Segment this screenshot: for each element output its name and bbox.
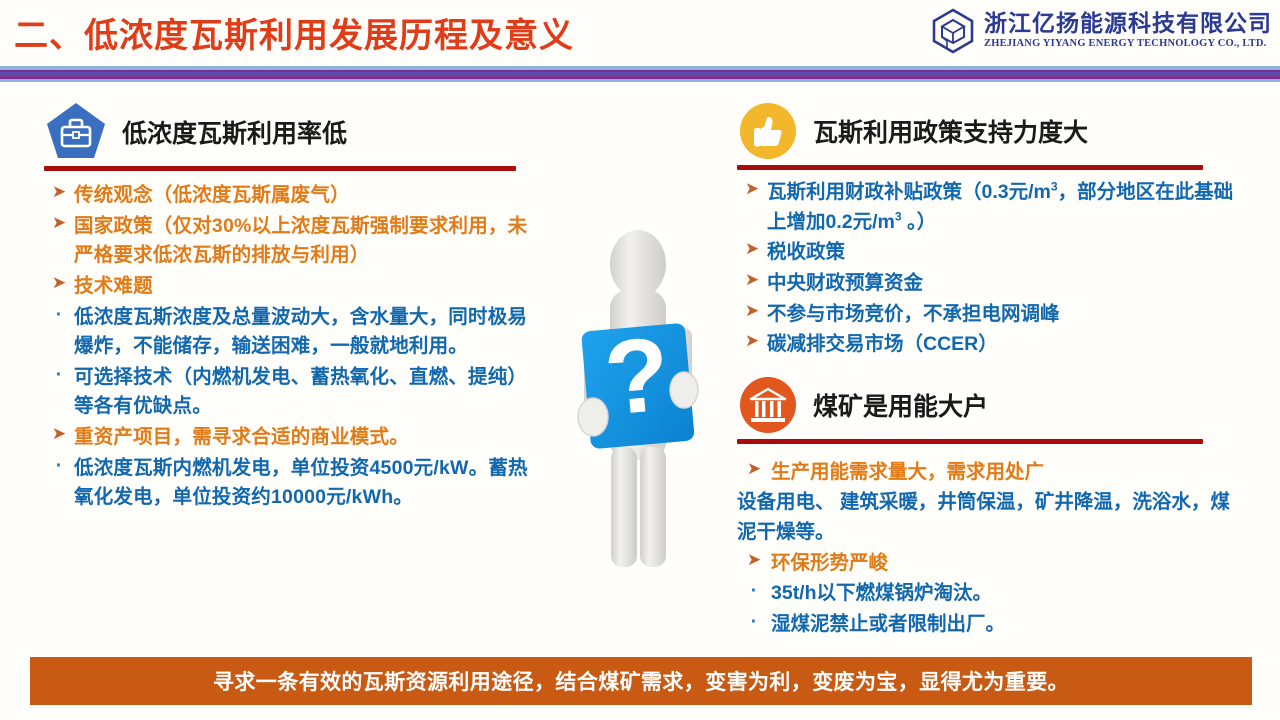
list-item: · 35t/h以下燃煤锅炉淘汰。 xyxy=(737,579,1237,609)
list-item: · 低浓度瓦斯内燃机发电，单位投资4500元/kW。蓄热氧化发电，单位投资约10… xyxy=(44,454,544,513)
bullet-text-subsidy: 瓦斯利用财政补贴政策（0.3元/m3，部分地区在此基础上增加0.2元/m3 。） xyxy=(767,178,1237,237)
left-panel-underline xyxy=(44,166,516,171)
list-item: ➤ 环保形势严峻 xyxy=(737,549,1237,579)
mine-panel-header: 煤矿是用能大户 xyxy=(737,374,1237,436)
briefcase-pentagon-icon xyxy=(44,100,108,164)
list-item: · 湿煤泥禁止或者限制出厂。 xyxy=(737,610,1237,640)
bullet-text: 不参与市场竞价，不承担电网调峰 xyxy=(767,300,1060,330)
header-divider-indigo xyxy=(0,72,1280,76)
policy-panel-header: 瓦斯利用政策支持力度大 xyxy=(737,100,1237,162)
bullet-text: 重资产项目，需寻求合适的商业模式。 xyxy=(74,423,409,453)
bullet-text: 碳减排交易市场（CCER） xyxy=(767,330,998,360)
arrow-bullet-icon: ➤ xyxy=(737,330,767,352)
list-item: · 可选择技术（内燃机发电、蓄热氧化、直燃、提纯）等各有优缺点。 xyxy=(44,363,544,422)
dot-bullet-icon: · xyxy=(44,454,74,479)
arrow-bullet-icon: ➤ xyxy=(44,272,74,294)
bullet-text: 低浓度瓦斯浓度及总量波动大，含水量大，同时极易爆炸，不能储存，输送困难，一般就地… xyxy=(74,303,544,362)
left-panel-header: 低浓度瓦斯利用率低 xyxy=(44,100,544,164)
bullet-text: 生产用能需求量大，需求用处广 xyxy=(771,458,1044,488)
bullet-text: 中央财政预算资金 xyxy=(767,269,923,299)
bullet-text: 湿煤泥禁止或者限制出厂。 xyxy=(771,610,1005,640)
bullet-text: 可选择技术（内燃机发电、蓄热氧化、直燃、提纯）等各有优缺点。 xyxy=(74,363,544,422)
header-divider xyxy=(0,66,1280,82)
arrow-bullet-icon: ➤ xyxy=(737,269,767,291)
left-bullet-list: ➤ 传统观念（低浓度瓦斯属废气） ➤ 国家政策（仅对30%以上浓度瓦斯强制要求利… xyxy=(44,181,544,513)
summary-banner-text: 寻求一条有效的瓦斯资源利用途径，结合煤矿需求，变害为利，变废为宝，显得尤为重要。 xyxy=(213,666,1069,696)
list-item: ➤ 中央财政预算资金 xyxy=(737,269,1237,299)
hexagon-cube-logo-icon xyxy=(931,8,975,54)
logo-company-cn: 浙江亿扬能源科技有限公司 xyxy=(984,11,1272,36)
bullet-text: 税收政策 xyxy=(767,238,845,268)
bullet-text: 环保形势严峻 xyxy=(771,549,888,579)
arrow-bullet-icon: ➤ xyxy=(737,178,767,200)
bullet-text: 技术难题 xyxy=(74,272,153,302)
dot-bullet-icon: · xyxy=(737,610,771,635)
left-column: 低浓度瓦斯利用率低 ➤ 传统观念（低浓度瓦斯属废气） ➤ 国家政策（仅对30%以… xyxy=(44,100,544,514)
list-item: ➤ 税收政策 xyxy=(737,238,1237,268)
list-item: ➤ 国家政策（仅对30%以上浓度瓦斯强制要求利用，未严格要求低浓瓦斯的排放与利用… xyxy=(44,212,544,271)
logo-text-block: 浙江亿扬能源科技有限公司 ZHEJIANG YIYANG ENERGY TECH… xyxy=(984,11,1272,52)
arrow-bullet-icon: ➤ xyxy=(44,423,74,445)
summary-banner: 寻求一条有效的瓦斯资源利用途径，结合煤矿需求，变害为利，变废为宝，显得尤为重要。 xyxy=(30,657,1252,705)
right-column: 瓦斯利用政策支持力度大 ➤ 瓦斯利用财政补贴政策（0.3元/m3，部分地区在此基… xyxy=(737,100,1237,641)
slide-header: 二、低浓度瓦斯利用发展历程及意义 浙江亿扬能源科技有限公司 ZHEJIANG Y… xyxy=(0,0,1280,72)
policy-panel-title: 瓦斯利用政策支持力度大 xyxy=(813,113,1088,149)
bullet-text: 国家政策（仅对30%以上浓度瓦斯强制要求利用，未严格要求低浓瓦斯的排放与利用） xyxy=(74,212,544,271)
person-holding-question-sign-icon: ? xyxy=(548,222,728,572)
mine-panel-title: 煤矿是用能大户 xyxy=(813,387,988,423)
arrow-bullet-icon: ➤ xyxy=(44,212,74,234)
dot-bullet-icon: · xyxy=(737,579,771,604)
policy-bullet-list: ➤ 瓦斯利用财政补贴政策（0.3元/m3，部分地区在此基础上增加0.2元/m3 … xyxy=(737,178,1237,360)
logo-company-en: ZHEJIANG YIYANG ENERGY TECHNOLOGY CO., L… xyxy=(984,36,1272,52)
mine-bullet-list: ➤ 生产用能需求量大，需求用处广 设备用电、 建筑采暖，井筒保温，矿井降温，洗浴… xyxy=(737,458,1237,640)
list-item-continuation: 设备用电、 建筑采暖，井筒保温，矿井降温，洗浴水，煤泥干燥等。 xyxy=(737,488,1237,547)
list-item: ➤ 技术难题 xyxy=(44,272,544,302)
dot-bullet-icon: · xyxy=(44,303,74,328)
list-item: ➤ 不参与市场竞价，不承担电网调峰 xyxy=(737,300,1237,330)
bullet-text: 传统观念（低浓度瓦斯属废气） xyxy=(74,181,350,211)
arrow-bullet-icon: ➤ xyxy=(44,181,74,203)
bullet-text: 设备用电、 建筑采暖，井筒保温，矿井降温，洗浴水，煤泥干燥等。 xyxy=(737,488,1237,547)
list-item: · 低浓度瓦斯浓度及总量波动大，含水量大，同时极易爆炸，不能储存，输送困难，一般… xyxy=(44,303,544,362)
svg-text:?: ? xyxy=(600,315,674,437)
list-item: ➤ 瓦斯利用财政补贴政策（0.3元/m3，部分地区在此基础上增加0.2元/m3 … xyxy=(737,178,1237,237)
mine-panel-underline xyxy=(737,439,1203,444)
left-panel-title: 低浓度瓦斯利用率低 xyxy=(122,114,347,150)
policy-panel-underline xyxy=(737,165,1203,170)
list-item: ➤ 生产用能需求量大，需求用处广 xyxy=(737,458,1237,488)
company-logo: 浙江亿扬能源科技有限公司 ZHEJIANG YIYANG ENERGY TECH… xyxy=(931,8,1272,54)
list-item: ➤ 碳减排交易市场（CCER） xyxy=(737,330,1237,360)
page-title: 二、低浓度瓦斯利用发展历程及意义 xyxy=(14,8,574,57)
arrow-bullet-icon: ➤ xyxy=(737,238,767,260)
dot-bullet-icon: · xyxy=(44,363,74,388)
bank-building-circle-icon xyxy=(737,374,799,436)
arrow-bullet-icon: ➤ xyxy=(737,549,771,571)
thumbs-up-circle-icon xyxy=(737,100,799,162)
arrow-bullet-icon: ➤ xyxy=(737,458,771,480)
bullet-text: 35t/h以下燃煤锅炉淘汰。 xyxy=(771,579,992,609)
bullet-text: 低浓度瓦斯内燃机发电，单位投资4500元/kW。蓄热氧化发电，单位投资约1000… xyxy=(74,454,544,513)
list-item: ➤ 传统观念（低浓度瓦斯属废气） xyxy=(44,181,544,211)
arrow-bullet-icon: ➤ xyxy=(737,300,767,322)
list-item: ➤ 重资产项目，需寻求合适的商业模式。 xyxy=(44,423,544,453)
